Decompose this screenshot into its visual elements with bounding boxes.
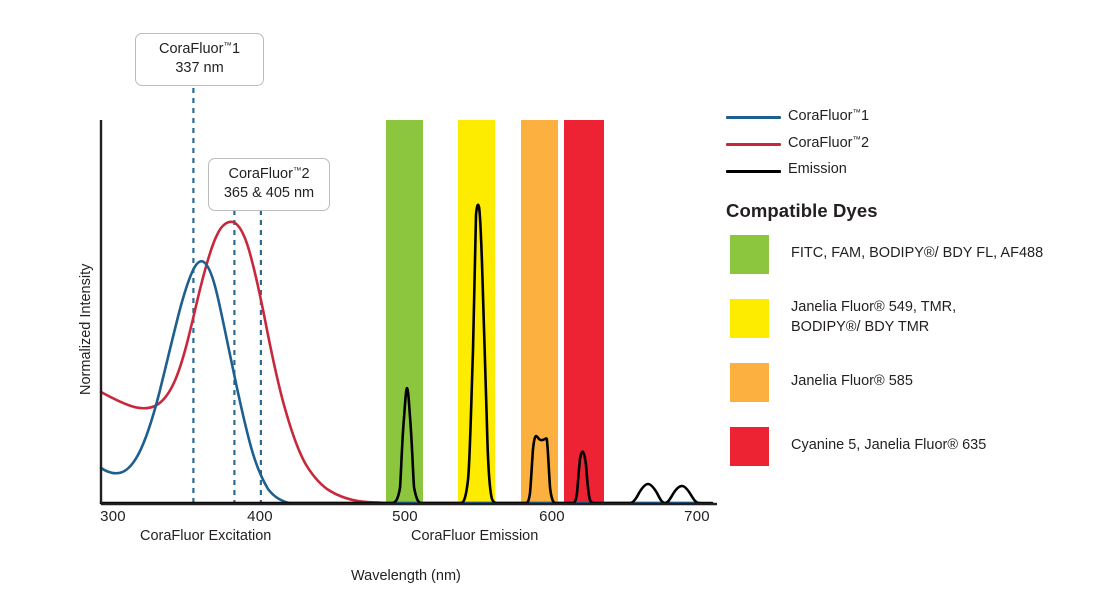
dye-item-orange: Janelia Fluor® 585 <box>726 356 1110 408</box>
dye-band-yellow <box>458 120 495 503</box>
dye-swatch-red <box>730 427 769 466</box>
legend-line-swatch-corafluor2 <box>726 143 781 146</box>
legend-label-emission: Emission <box>788 161 847 177</box>
plot-area: Normalized Intensity 300 400 500 600 700… <box>0 0 740 612</box>
dye-item-red: Cyanine 5, Janelia Fluor® 635 <box>726 420 1110 472</box>
dye-label-yellow: Janelia Fluor® 549, TMR, BODIPY®/ BDY TM… <box>791 298 956 337</box>
legend-line-swatch-corafluor1 <box>726 116 781 119</box>
legend-label-corafluor2: CoraFluor™2 <box>788 134 869 151</box>
dye-label-orange: Janelia Fluor® 585 <box>791 372 913 392</box>
dye-label-green: FITC, FAM, BODIPY®/ BDY FL, AF488 <box>791 244 1043 264</box>
dye-item-yellow: Janelia Fluor® 549, TMR, BODIPY®/ BDY TM… <box>726 292 1110 344</box>
dye-band-green <box>386 120 423 503</box>
callout2-suffix: 2 <box>301 166 309 182</box>
x-tick-700: 700 <box>667 508 727 525</box>
x-tick-400: 400 <box>230 508 290 525</box>
dye-swatch-yellow <box>730 299 769 338</box>
callout2-value: 365 & 405 nm <box>219 184 319 203</box>
callout-corafluor2: CoraFluor™2 365 & 405 nm <box>208 158 330 211</box>
callout1-value: 337 nm <box>146 59 253 78</box>
excitation-region-caption: CoraFluor Excitation <box>140 528 271 544</box>
callout1-suffix: 1 <box>232 41 240 57</box>
legend-label-corafluor1: CoraFluor™1 <box>788 107 869 124</box>
y-axis-label: Normalized Intensity <box>78 264 94 395</box>
excitation-marker-lines <box>193 88 261 503</box>
dye-item-green: FITC, FAM, BODIPY®/ BDY FL, AF488 <box>726 228 1110 280</box>
trademark-icon: ™ <box>852 134 861 144</box>
callout2-name: CoraFluor <box>228 166 292 182</box>
legend-item-corafluor2: CoraFluor™2 <box>726 131 1110 158</box>
x-tick-300: 300 <box>83 508 143 525</box>
trademark-icon: ™ <box>223 40 232 50</box>
x-tick-600: 600 <box>522 508 582 525</box>
x-axis-label: Wavelength (nm) <box>351 568 461 584</box>
callout1-name: CoraFluor <box>159 41 223 57</box>
emission-region-caption: CoraFluor Emission <box>411 528 538 544</box>
dye-swatch-orange <box>730 363 769 402</box>
trademark-icon: ™ <box>852 107 861 117</box>
dye-swatch-green <box>730 235 769 274</box>
dye-label-red: Cyanine 5, Janelia Fluor® 635 <box>791 436 986 456</box>
dye-bands <box>386 120 604 503</box>
legend-item-emission: Emission <box>726 158 1110 185</box>
dye-band-orange <box>521 120 558 503</box>
legend-item-corafluor1: CoraFluor™1 <box>726 104 1110 131</box>
x-tick-500: 500 <box>375 508 435 525</box>
callout-corafluor1: CoraFluor™1 337 nm <box>135 33 264 86</box>
compatible-dyes-heading: Compatible Dyes <box>726 200 1110 222</box>
spectra-figure: Normalized Intensity 300 400 500 600 700… <box>0 0 1110 612</box>
dye-band-red <box>564 120 604 503</box>
legend-panel: CoraFluor™1 CoraFluor™2 Emission Compati… <box>726 104 1110 472</box>
legend-line-swatch-emission <box>726 170 781 173</box>
